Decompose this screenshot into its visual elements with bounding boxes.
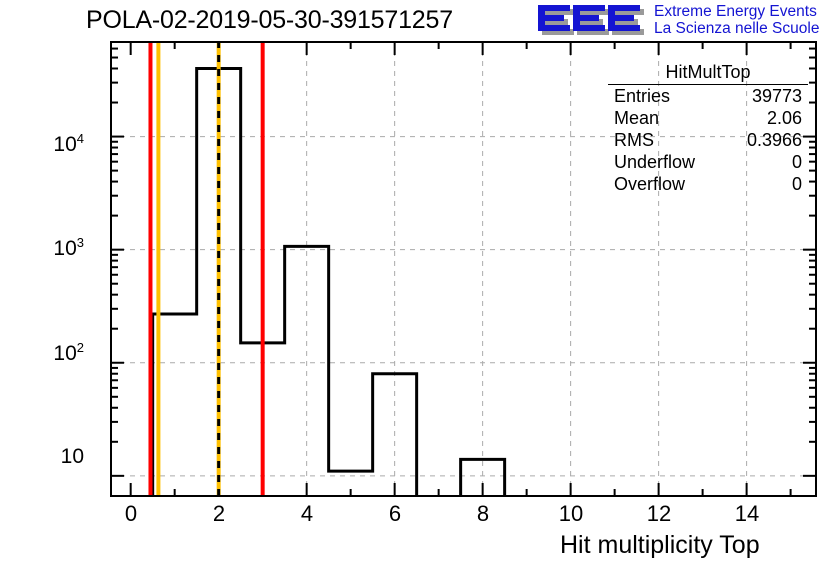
y-tick-100: 102 <box>53 340 84 366</box>
x-tick-10: 10 <box>551 501 591 527</box>
page-title: POLA-02-2019-05-30-391571257 <box>86 6 453 35</box>
stats-row-mean: Mean 2.06 <box>608 107 808 129</box>
stats-box: HitMultTop Entries 39773 Mean 2.06 RMS 0… <box>608 62 808 195</box>
stats-value: 0.3966 <box>747 130 808 151</box>
stats-key: Mean <box>608 108 659 129</box>
stats-key: RMS <box>608 130 654 151</box>
root-canvas: POLA-02-2019-05-30-391571257 Extreme <box>0 0 836 572</box>
stats-key: Overflow <box>608 174 685 195</box>
y-tick-10: 10 <box>61 445 84 469</box>
stats-key: Underflow <box>608 152 695 173</box>
stats-value: 39773 <box>752 86 808 107</box>
x-tick-0: 0 <box>111 501 151 527</box>
stats-row-underflow: Underflow 0 <box>608 151 808 173</box>
stats-value: 0 <box>792 174 808 195</box>
stats-value: 2.06 <box>767 108 808 129</box>
stats-row-overflow: Overflow 0 <box>608 173 808 195</box>
stats-row-entries: Entries 39773 <box>608 85 808 107</box>
x-axis-title: Hit multiplicity Top <box>560 531 760 560</box>
x-tick-14: 14 <box>727 501 767 527</box>
eee-logo: Extreme Energy Events La Scienza nelle S… <box>536 2 832 42</box>
stats-title: HitMultTop <box>608 62 808 85</box>
logo-text-block: Extreme Energy Events La Scienza nelle S… <box>654 4 819 37</box>
logo-line-2: La Scienza nelle Scuole <box>654 21 819 38</box>
stats-value: 0 <box>792 152 808 173</box>
stats-key: Entries <box>608 86 670 107</box>
x-tick-12: 12 <box>639 501 679 527</box>
y-tick-10000: 104 <box>53 131 84 157</box>
x-tick-2: 2 <box>199 501 239 527</box>
x-tick-6: 6 <box>375 501 415 527</box>
x-tick-4: 4 <box>287 501 327 527</box>
y-tick-1000: 103 <box>53 235 84 261</box>
eee-letters-icon <box>536 3 646 37</box>
logo-line-1: Extreme Energy Events <box>654 4 819 21</box>
x-tick-8: 8 <box>463 501 503 527</box>
stats-row-rms: RMS 0.3966 <box>608 129 808 151</box>
